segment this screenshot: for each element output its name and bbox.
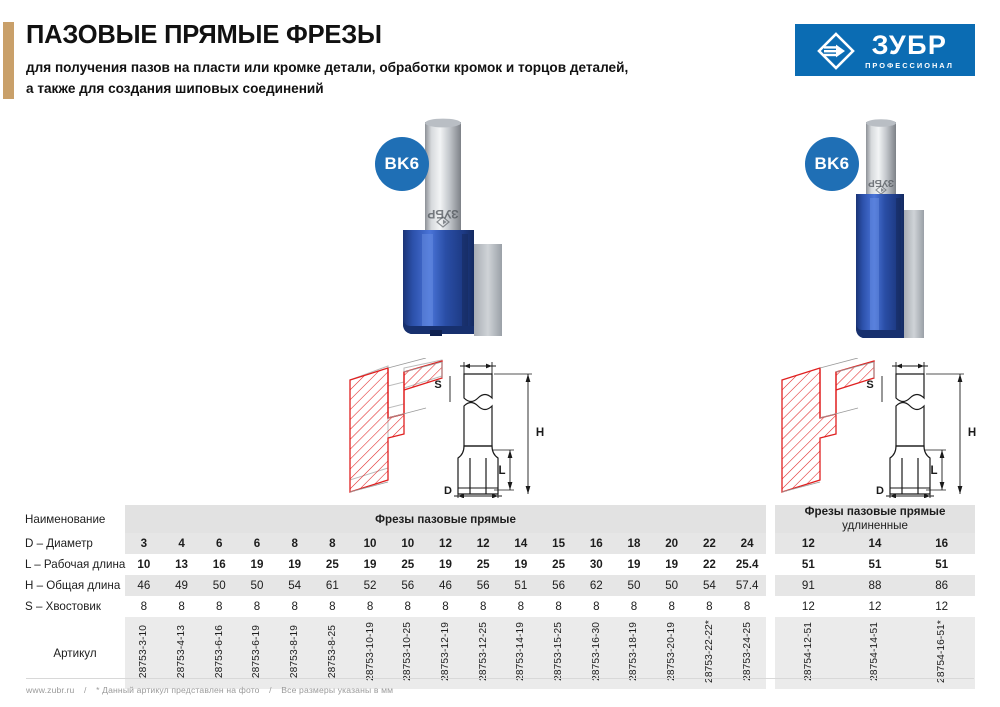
- cell-d-15: 22: [691, 533, 729, 554]
- page-title: ПАЗОВЫЕ ПРЯМЫЕ ФРЕЗЫ: [26, 22, 382, 49]
- table-row-shank: 121212: [775, 596, 975, 617]
- row-label-working-length: L – Рабочая длина: [0, 554, 125, 575]
- group-header-extended: Фрезы пазовые прямые удлиненные: [775, 505, 975, 533]
- group-header-extended-line-2: удлиненные: [775, 519, 975, 533]
- cell-d-0: 3: [125, 533, 163, 554]
- cutter-side-view: [458, 374, 498, 494]
- table-row-diameter: D – Диаметр 3466881010121214151618202224: [0, 533, 766, 554]
- cell-l-0: 10: [125, 554, 163, 575]
- cell-h-12: 62: [577, 575, 615, 596]
- cell-h-2: 86: [908, 575, 975, 596]
- article-number: 28753-16-30: [591, 622, 602, 681]
- cell-d-3: 6: [238, 533, 276, 554]
- cell-d-0: 12: [775, 533, 842, 554]
- article-number: 28753-3-10: [138, 625, 149, 678]
- article-number: 28753-20-19: [666, 622, 677, 681]
- cell-l-14: 19: [653, 554, 691, 575]
- cell-d-6: 10: [351, 533, 389, 554]
- cell-s-11: 8: [540, 596, 578, 617]
- cell-d-5: 8: [314, 533, 352, 554]
- cell-h-13: 50: [615, 575, 653, 596]
- article-number: 28753-4-13: [176, 625, 187, 678]
- table-row-working-length: 515151: [775, 554, 975, 575]
- footer-separator-1: /: [84, 685, 87, 695]
- cell-d-2: 16: [908, 533, 975, 554]
- cell-h-2: 50: [200, 575, 238, 596]
- cell-l-6: 19: [351, 554, 389, 575]
- dimension-label-s: S: [434, 379, 441, 391]
- cell-d-7: 10: [389, 533, 427, 554]
- brand-name: ЗУБР: [872, 32, 948, 59]
- cell-s-8: 8: [427, 596, 465, 617]
- cell-l-9: 25: [464, 554, 502, 575]
- cell-s-6: 8: [351, 596, 389, 617]
- cell-s-13: 8: [615, 596, 653, 617]
- cell-l-0: 51: [775, 554, 842, 575]
- article-number: 28754-14-51: [869, 622, 880, 681]
- cell-s-7: 8: [389, 596, 427, 617]
- cell-h-1: 88: [842, 575, 909, 596]
- cell-d-1: 4: [163, 533, 201, 554]
- spec-table-extended: Фрезы пазовые прямые удлиненные 121416 5…: [775, 505, 975, 689]
- spec-table-standard: Наименование Фрезы пазовые прямые D – Ди…: [0, 505, 766, 689]
- row-label-diameter: D – Диаметр: [0, 533, 125, 554]
- cell-d-4: 8: [276, 533, 314, 554]
- article-number: 28753-10-25: [402, 622, 413, 681]
- cell-d-12: 16: [577, 533, 615, 554]
- dimension-label-l: L: [498, 465, 505, 477]
- dimension-label-h: H: [536, 427, 544, 439]
- arrow-diamond-icon: [816, 31, 856, 71]
- cell-h-0: 91: [775, 575, 842, 596]
- table-row-group-header: Фрезы пазовые прямые удлиненные: [775, 505, 975, 533]
- table-row-working-length: L – Рабочая длина 1013161919251925192519…: [0, 554, 766, 575]
- article-number: 28753-8-19: [289, 625, 300, 678]
- table-row-diameter: 121416: [775, 533, 975, 554]
- cell-h-8: 46: [427, 575, 465, 596]
- cell-s-2: 12: [908, 596, 975, 617]
- cell-d-13: 18: [615, 533, 653, 554]
- dimension-label-h: H: [968, 427, 976, 439]
- cell-h-10: 51: [502, 575, 540, 596]
- cell-h-5: 61: [314, 575, 352, 596]
- cell-h-14: 50: [653, 575, 691, 596]
- article-number: 28753-18-19: [628, 622, 639, 681]
- cell-s-2: 8: [200, 596, 238, 617]
- footer-divider: [26, 678, 974, 679]
- datasheet-page: ПАЗОВЫЕ ПРЯМЫЕ ФРЕЗЫ для получения пазов…: [0, 0, 1000, 707]
- article-number: 28753-6-16: [214, 625, 225, 678]
- workpiece-groove: [782, 358, 874, 492]
- cell-s-1: 12: [842, 596, 909, 617]
- footer-note-article: * Данный артикул представлен на фото: [96, 685, 260, 695]
- cell-d-8: 12: [427, 533, 465, 554]
- cell-l-4: 19: [276, 554, 314, 575]
- cell-l-15: 22: [691, 554, 729, 575]
- article-number: 28753-15-25: [553, 622, 564, 681]
- cell-l-5: 25: [314, 554, 352, 575]
- cell-l-11: 25: [540, 554, 578, 575]
- dimension-label-s: S: [866, 379, 873, 391]
- cell-l-13: 19: [615, 554, 653, 575]
- table-row-group-header: Наименование Фрезы пазовые прямые: [0, 505, 766, 533]
- article-number: 28753-8-25: [327, 625, 338, 678]
- cell-h-11: 56: [540, 575, 578, 596]
- cell-h-6: 52: [351, 575, 389, 596]
- cell-l-2: 51: [908, 554, 975, 575]
- cell-s-0: 12: [775, 596, 842, 617]
- article-number: 28753-14-19: [515, 622, 526, 681]
- article-number: 28753-10-19: [365, 622, 376, 681]
- footer-note-units: Все размеры указаны в мм: [281, 685, 393, 695]
- cell-s-10: 8: [502, 596, 540, 617]
- badge-bk6-standard: BK6: [375, 137, 429, 191]
- cell-l-2: 16: [200, 554, 238, 575]
- cell-d-1: 14: [842, 533, 909, 554]
- cell-l-16: 25.4: [728, 554, 766, 575]
- cell-d-14: 20: [653, 533, 691, 554]
- badge-bk6-extended: BK6: [805, 137, 859, 191]
- cell-s-0: 8: [125, 596, 163, 617]
- cell-s-5: 8: [314, 596, 352, 617]
- technical-diagram-extended: S H L D: [774, 358, 989, 498]
- cell-s-4: 8: [276, 596, 314, 617]
- cutter-side-view: [890, 374, 930, 494]
- table-row-shank: S – Хвостовик 88888888888888888: [0, 596, 766, 617]
- cell-d-11: 15: [540, 533, 578, 554]
- cell-s-3: 8: [238, 596, 276, 617]
- cell-s-1: 8: [163, 596, 201, 617]
- technical-diagram-standard: S H L D: [342, 358, 557, 498]
- row-label-name: Наименование: [0, 505, 125, 533]
- dimension-label-l: L: [930, 465, 937, 477]
- cell-l-8: 19: [427, 554, 465, 575]
- cell-s-12: 8: [577, 596, 615, 617]
- row-label-total-length: H – Общая длина: [0, 575, 125, 596]
- brand-tagline: ПРОФЕССИОНАЛ: [865, 62, 954, 69]
- cell-d-10: 14: [502, 533, 540, 554]
- article-number: 28754-16-51*: [936, 620, 947, 683]
- cell-d-9: 12: [464, 533, 502, 554]
- accent-bar: [3, 22, 14, 99]
- row-label-shank: S – Хвостовик: [0, 596, 125, 617]
- cell-d-16: 24: [728, 533, 766, 554]
- cell-l-1: 51: [842, 554, 909, 575]
- group-header-extended-line-1: Фрезы пазовые прямые: [775, 505, 975, 519]
- cell-h-3: 50: [238, 575, 276, 596]
- article-number: 28753-6-19: [251, 625, 262, 678]
- page-subtitle: для получения пазов на пласти или кромке…: [26, 58, 628, 99]
- article-number: 28753-22-22*: [704, 620, 715, 683]
- cell-s-14: 8: [653, 596, 691, 617]
- cell-d-2: 6: [200, 533, 238, 554]
- cell-h-7: 56: [389, 575, 427, 596]
- cell-h-0: 46: [125, 575, 163, 596]
- article-number: 28753-12-25: [478, 622, 489, 681]
- footer-separator-2: /: [269, 685, 272, 695]
- cell-h-15: 54: [691, 575, 729, 596]
- table-row-total-length: 918886: [775, 575, 975, 596]
- page-subtitle-line-1: для получения пазов на пласти или кромке…: [26, 58, 628, 79]
- cell-s-15: 8: [691, 596, 729, 617]
- footer-website[interactable]: www.zubr.ru: [26, 685, 74, 695]
- cell-h-16: 57.4: [728, 575, 766, 596]
- dimension-label-d: D: [876, 485, 884, 497]
- cell-l-10: 19: [502, 554, 540, 575]
- cell-l-1: 13: [163, 554, 201, 575]
- article-number: 28753-24-25: [742, 622, 753, 681]
- brand-logo: ЗУБР ПРОФЕССИОНАЛ: [795, 24, 975, 76]
- table-row-total-length: H – Общая длина 464950505461525646565156…: [0, 575, 766, 596]
- cell-l-7: 25: [389, 554, 427, 575]
- cell-h-1: 49: [163, 575, 201, 596]
- cell-l-3: 19: [238, 554, 276, 575]
- group-header-standard: Фрезы пазовые прямые: [125, 505, 766, 533]
- svg-text:ЗУБР: ЗУБР: [427, 207, 458, 221]
- cell-s-16: 8: [728, 596, 766, 617]
- cell-h-9: 56: [464, 575, 502, 596]
- cell-l-12: 30: [577, 554, 615, 575]
- article-number: 28753-12-19: [440, 622, 451, 681]
- page-subtitle-line-2: а также для создания шиповых соединений: [26, 79, 628, 100]
- cell-h-4: 54: [276, 575, 314, 596]
- footer: www.zubr.ru / * Данный артикул представл…: [26, 685, 393, 695]
- dimension-label-d: D: [444, 485, 452, 497]
- workpiece-groove: [350, 358, 442, 492]
- article-number: 28754-12-51: [803, 622, 814, 681]
- cell-s-9: 8: [464, 596, 502, 617]
